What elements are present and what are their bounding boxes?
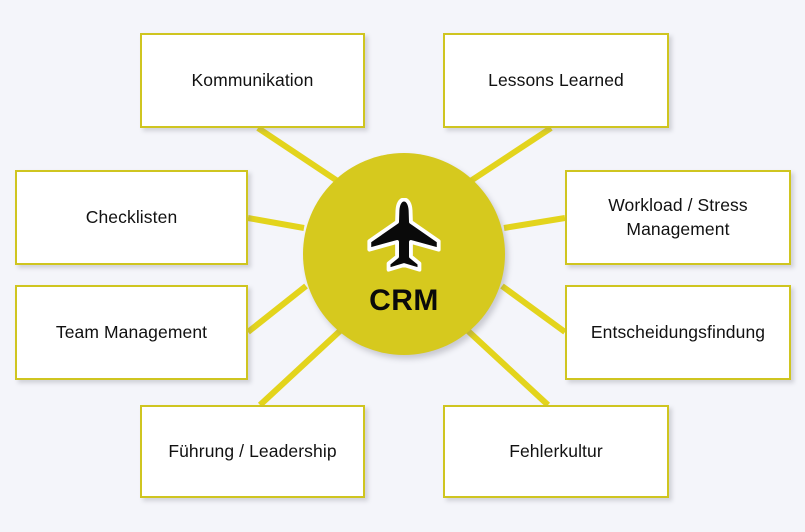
connector-kommunikation [258, 128, 339, 182]
node-label-kommunikation: Kommunikation [182, 69, 324, 92]
hub-label: CRM [369, 284, 439, 318]
connector-fehlerkultur [467, 330, 548, 405]
node-label-lessons-learned: Lessons Learned [478, 69, 634, 92]
airplane-icon [365, 198, 443, 272]
node-lessons-learned[interactable]: Lessons Learned [443, 33, 669, 128]
connector-workload-stress-management [504, 218, 565, 228]
node-label-fehlerkultur: Fehlerkultur [499, 440, 613, 463]
node-label-entscheidungsfindung: Entscheidungsfindung [581, 321, 775, 344]
crm-diagram: Kommunikation Lessons Learned Checkliste… [0, 0, 805, 532]
connector-fuehrung-leadership [260, 330, 341, 405]
node-fehlerkultur[interactable]: Fehlerkultur [443, 405, 669, 498]
node-kommunikation[interactable]: Kommunikation [140, 33, 365, 128]
node-label-team-management: Team Management [46, 321, 217, 344]
connector-checklisten [248, 218, 304, 228]
node-label-fuehrung-leadership: Führung / Leadership [158, 440, 346, 463]
connector-team-management [248, 286, 306, 332]
hub-crm[interactable]: CRM [303, 153, 505, 355]
node-label-workload-stress-management: Workload / Stress Management [598, 194, 757, 240]
node-entscheidungsfindung[interactable]: Entscheidungsfindung [565, 285, 791, 380]
node-workload-stress-management[interactable]: Workload / Stress Management [565, 170, 791, 265]
node-team-management[interactable]: Team Management [15, 285, 248, 380]
connector-lessons-learned [469, 128, 551, 182]
node-label-checklisten: Checklisten [76, 206, 188, 229]
connector-entscheidungsfindung [502, 286, 565, 332]
node-fuehrung-leadership[interactable]: Führung / Leadership [140, 405, 365, 498]
node-checklisten[interactable]: Checklisten [15, 170, 248, 265]
